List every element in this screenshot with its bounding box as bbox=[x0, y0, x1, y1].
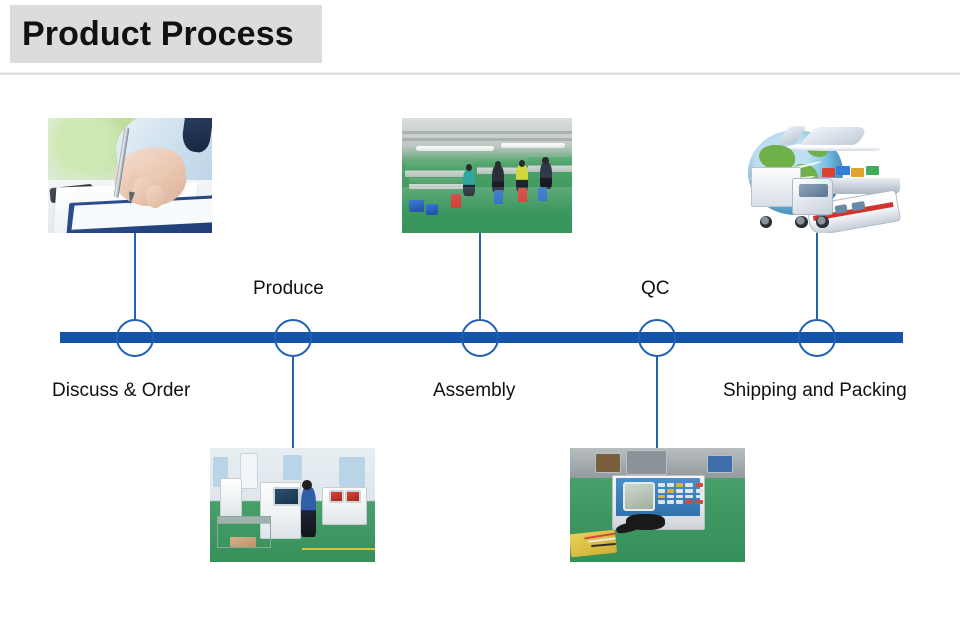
timeline-node-produce[interactable] bbox=[274, 319, 312, 357]
connector-shipping-packing bbox=[816, 233, 818, 319]
timeline-label-produce: Produce bbox=[253, 279, 324, 298]
timeline-node-assembly[interactable] bbox=[461, 319, 499, 357]
timeline-node-shipping-packing[interactable] bbox=[798, 319, 836, 357]
timeline-label-assembly: Assembly bbox=[433, 381, 515, 400]
production-workshop-photo bbox=[210, 448, 375, 562]
page-title: Product Process bbox=[10, 17, 294, 51]
header-divider bbox=[0, 72, 960, 75]
connector-assembly bbox=[479, 233, 481, 319]
timeline-label-qc: QC bbox=[641, 279, 670, 298]
slide-canvas: Product Process bbox=[0, 0, 960, 617]
timeline-node-discuss-order[interactable] bbox=[116, 319, 154, 357]
connector-discuss-order bbox=[134, 233, 136, 319]
timeline-label-discuss-order: Discuss & Order bbox=[52, 381, 190, 400]
page-title-box: Product Process bbox=[10, 5, 322, 63]
qc-test-equipment-photo bbox=[570, 448, 745, 562]
timeline-label-shipping-packing: Shipping and Packing bbox=[723, 381, 907, 400]
timeline-node-qc[interactable] bbox=[638, 319, 676, 357]
signing-contract-photo bbox=[48, 118, 212, 233]
connector-produce bbox=[292, 357, 294, 448]
global-logistics-photo bbox=[738, 118, 902, 233]
assembly-line-photo bbox=[402, 118, 572, 233]
connector-qc bbox=[656, 357, 658, 448]
